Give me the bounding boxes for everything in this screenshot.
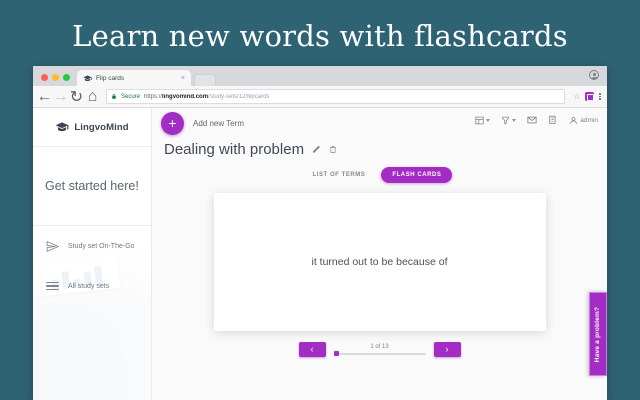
user-icon [569, 116, 578, 125]
chevron-down-icon [512, 119, 516, 122]
browser-toolbar: ← → ↻ ⌂ Secure https://lingvomind.com/st… [33, 86, 607, 108]
browser-tab-title: Flip cards [96, 75, 177, 82]
filter-icon[interactable] [501, 116, 516, 125]
brand-logo[interactable]: LingvoMind [33, 108, 151, 146]
filter-glyph [501, 116, 510, 125]
plus-icon: + [168, 116, 176, 130]
url-scheme: https:// [144, 94, 162, 100]
add-term-label: Add new Term [193, 119, 244, 128]
help-tab-label: Have a problem? [595, 306, 602, 361]
forward-button[interactable]: → [55, 91, 66, 102]
chevron-left-icon: ‹ [311, 345, 314, 354]
edit-icon[interactable] [312, 145, 321, 154]
url-domain: lingvomind.com [162, 94, 208, 100]
delete-icon[interactable] [329, 145, 337, 154]
minimize-window-button[interactable] [52, 74, 59, 81]
tab-flash-cards[interactable]: FLASH CARDS [381, 167, 452, 183]
set-title-row: Dealing with problem [152, 138, 607, 158]
bookmark-star-icon[interactable]: ☆ [573, 93, 580, 101]
paper-plane-icon [46, 240, 59, 253]
maximize-window-button[interactable] [63, 74, 70, 81]
profile-avatar-icon[interactable] [589, 70, 599, 80]
slider-track[interactable] [334, 353, 426, 355]
page-title: Learn new words with flashcards [72, 19, 568, 53]
sidebar-item-label: Study set On-The-Go [68, 243, 135, 250]
hamburger-icon [46, 282, 59, 291]
address-bar[interactable]: Secure https://lingvomind.com/study-sets… [106, 89, 565, 104]
main-content: + Add new Term [152, 108, 607, 400]
lock-icon [111, 93, 117, 100]
prev-card-button[interactable]: ‹ [299, 342, 326, 357]
url-text: https://lingvomind.com/study-sets/12/fli… [144, 94, 269, 100]
reload-button[interactable]: ↻ [71, 91, 82, 102]
kebab-menu-icon[interactable] [599, 93, 601, 100]
browser-tab-strip: Flip cards × [33, 66, 607, 86]
browser-window: Flip cards × ← → ↻ ⌂ Secure https://ling… [33, 66, 607, 400]
envelope-glyph [527, 115, 537, 125]
browser-tab[interactable]: Flip cards × [77, 70, 191, 86]
notes-icon[interactable] [548, 115, 558, 125]
flashcard-pager: ‹ 1 of 13 › [152, 342, 607, 357]
sidebar-item-all-study-sets[interactable]: All study sets [33, 266, 151, 306]
extension-icon[interactable] [585, 92, 594, 101]
chevron-right-icon: › [446, 345, 449, 354]
app-viewport: LingvoMind Get started here! Study set O… [33, 108, 607, 400]
banner: Learn new words with flashcards [0, 0, 640, 72]
brand-name: LingvoMind [74, 122, 128, 133]
url-path: /study-sets/12/flipcards [208, 94, 269, 100]
grid-view-icon[interactable] [475, 116, 490, 125]
main-topbar: + Add new Term [152, 108, 607, 138]
user-label: admin [580, 117, 598, 124]
grid-glyph [475, 116, 484, 125]
secure-label: Secure [121, 94, 140, 100]
mail-icon[interactable] [527, 115, 537, 125]
card-progress-slider[interactable]: 1 of 13 [334, 344, 426, 355]
toolbar-actions: ☆ [573, 92, 601, 101]
home-button[interactable]: ⌂ [87, 91, 98, 102]
new-tab-button[interactable] [194, 74, 216, 86]
chevron-down-icon [486, 119, 490, 122]
window-controls [33, 74, 77, 86]
sidebar-hero: Get started here! [33, 147, 151, 225]
help-tab[interactable]: Have a problem? [589, 292, 607, 376]
tab-list-of-terms[interactable]: LIST OF TERMS [307, 168, 372, 182]
card-position-label: 1 of 13 [370, 344, 388, 350]
set-title: Dealing with problem [164, 141, 304, 158]
sidebar: LingvoMind Get started here! Study set O… [33, 108, 152, 400]
screenshot-root: Learn new words with flashcards Flip car… [0, 0, 640, 400]
main-top-icons: admin [475, 115, 598, 125]
sidebar-item-study-set-on-the-go[interactable]: Study set On-The-Go [33, 226, 151, 266]
add-term-button[interactable]: + [161, 112, 184, 135]
user-menu[interactable]: admin [569, 116, 598, 125]
sidebar-hero-label: Get started here! [45, 179, 139, 193]
notes-glyph [548, 115, 558, 125]
next-card-button[interactable]: › [434, 342, 461, 357]
view-tabs: LIST OF TERMS FLASH CARDS [152, 167, 607, 183]
slider-thumb[interactable] [334, 351, 339, 356]
sidebar-item-label: All study sets [68, 283, 109, 290]
close-icon[interactable]: × [181, 75, 187, 82]
back-button[interactable]: ← [39, 91, 50, 102]
flashcard-text: it turned out to be because of [311, 256, 447, 268]
close-window-button[interactable] [41, 74, 48, 81]
graduation-cap-icon [55, 120, 69, 134]
flashcard[interactable]: it turned out to be because of [214, 193, 546, 331]
graduation-cap-icon [83, 74, 92, 83]
